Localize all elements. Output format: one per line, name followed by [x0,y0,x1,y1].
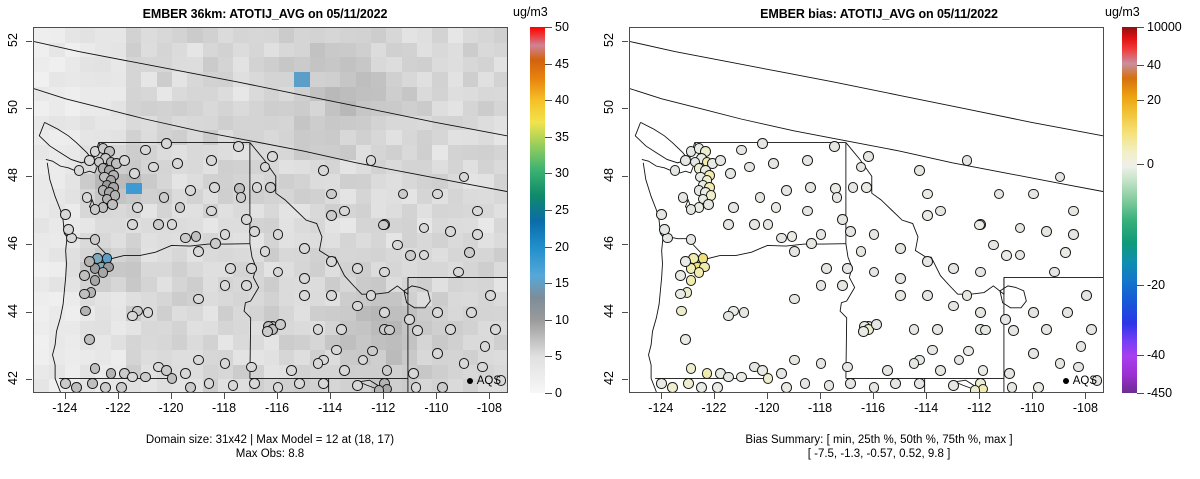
colorbar-tick [545,320,552,321]
site-marker [275,319,286,330]
y-tick-label: 52 [6,27,20,53]
colorbar-tick [1137,355,1144,356]
bias-aqs-legend: AQS [1063,375,1097,387]
site-marker [683,378,694,389]
site-marker [84,155,95,166]
site-marker [326,189,337,200]
site-marker [1028,189,1039,200]
site-marker [382,365,393,376]
site-marker [318,165,329,176]
colorbar-tick-label: -450 [1147,386,1172,400]
site-marker [723,219,734,230]
colorbar-tick-label: 30 [555,166,569,180]
site-marker [252,182,263,193]
site-marker [656,209,667,220]
model-map-plot: AQS [33,27,508,393]
site-marker [848,182,859,193]
site-marker [1028,348,1039,359]
x-tick [714,393,715,399]
colorbar-tick-label: 5 [555,349,562,363]
y-tick-label: 42 [602,365,616,391]
site-marker [71,382,82,393]
site-marker [696,382,707,393]
site-marker [922,189,933,200]
site-marker [789,246,800,257]
site-marker [299,243,310,254]
x-tick [1032,393,1033,399]
site-marker [869,382,880,393]
x-tick-label: -108 [1062,401,1108,415]
site-marker [670,165,681,176]
site-marker [927,345,938,356]
y-tick [622,108,628,109]
bias-colorbar-unit: ug/m3 [1105,5,1140,19]
site-marker [1033,382,1044,393]
colorbar-tick [1137,393,1144,394]
site-marker [805,182,816,193]
site-marker [161,138,172,149]
x-tick [330,393,331,399]
x-tick-label: -116 [254,401,300,415]
site-marker [675,289,686,300]
site-marker [1068,229,1079,240]
site-marker [294,378,305,389]
site-marker [980,325,991,336]
site-marker [127,372,138,383]
y-tick-label: 44 [6,298,20,324]
site-marker [845,378,856,389]
site-marker [367,346,378,357]
site-marker [107,199,118,210]
site-marker [326,290,337,301]
colorbar-tick-label: 20 [1147,93,1161,107]
site-marker [914,165,925,176]
site-marker [185,382,196,393]
site-marker [686,275,697,286]
site-marker [90,275,101,286]
site-marker [963,346,974,357]
site-marker [871,319,882,330]
site-marker [1000,314,1011,325]
site-marker [286,365,297,376]
site-marker [1041,324,1052,335]
model-panel-title: EMBER 36km: ATOTIJ_AVG on 05/11/2022 [0,7,530,21]
site-marker [172,158,183,169]
x-tick-label: -124 [638,401,684,415]
model-panel: EMBER 36km: ATOTIJ_AVG on 05/11/2022 AQS… [0,0,600,479]
site-marker [781,382,792,393]
colorbar-tick [545,210,552,211]
site-marker [715,155,726,166]
site-marker [241,280,252,291]
x-tick-label: -120 [744,401,790,415]
site-marker [723,372,734,383]
site-marker [225,263,236,274]
site-marker [318,378,329,389]
site-marker [978,365,989,376]
site-marker [326,210,337,221]
site-marker [842,263,853,274]
site-marker [755,192,766,203]
colorbar-tick [545,27,552,28]
x-tick [277,393,278,399]
site-marker [82,192,93,203]
x-tick-label: -114 [307,401,353,415]
model-aqs-legend-label: AQS [477,375,501,387]
x-tick [979,393,980,399]
colorbar-tick-label: 40 [555,93,569,107]
site-marker [472,229,483,240]
site-marker [262,326,273,337]
bias-caption: Bias Summary: [ min, 25th %, 50th %, 75t… [629,433,1129,461]
colorbar-tick-label: 15 [555,276,569,290]
y-tick [622,41,628,42]
site-marker [273,382,284,393]
colorbar-tick-label: -20 [1147,278,1165,292]
site-marker [352,380,363,391]
site-marker [193,246,204,257]
model-caption: Domain size: 31x42 | Max Model = 12 at (… [0,433,540,461]
site-marker [686,204,697,215]
site-marker [60,209,71,220]
site-marker [384,325,395,336]
site-marker [821,263,832,274]
colorbar-tick [545,173,552,174]
colorbar-tick [1137,164,1144,165]
site-marker [209,182,220,193]
aqs-dot-icon [1063,378,1069,384]
site-marker [787,231,798,242]
site-marker [922,256,933,267]
site-marker [1028,307,1039,318]
colorbar-tick-label: 35 [555,130,569,144]
site-marker [837,214,848,225]
model-colorbar-gradient [530,27,545,393]
y-tick-label: 42 [6,365,20,391]
x-tick-label: -110 [1009,401,1055,415]
site-marker [140,145,151,156]
x-tick [224,393,225,399]
x-tick-label: -120 [148,401,194,415]
site-marker [432,307,443,318]
site-marker [802,155,813,166]
site-marker [935,365,946,376]
x-tick-label: -118 [797,401,843,415]
site-marker [313,324,324,335]
site-marker [829,141,840,152]
y-tick-label: 46 [602,230,616,256]
y-tick-label: 44 [602,298,616,324]
site-marker [116,382,127,393]
site-marker [749,219,760,230]
site-marker [241,214,252,225]
site-marker [477,362,488,373]
x-tick [489,393,490,399]
site-marker [970,385,981,393]
y-tick-label: 46 [6,230,20,256]
site-marker [464,247,475,258]
site-marker [246,263,257,274]
bias-panel-title: EMBER bias: ATOTIJ_AVG on 05/11/2022 [629,7,1129,21]
site-marker [1086,324,1097,335]
site-marker [246,362,257,373]
site-marker [378,220,389,231]
site-marker [858,326,869,337]
y-tick [26,176,32,177]
site-marker [909,324,920,335]
site-marker [313,358,324,369]
site-marker [1073,362,1084,373]
colorbar-tick-label: 40 [1147,58,1161,72]
colorbar-tick [545,100,552,101]
y-tick-label: 52 [602,27,616,53]
site-marker [776,233,787,244]
site-marker [459,358,470,369]
site-marker [882,365,893,376]
site-marker [132,202,143,213]
colorbar-tick [1137,27,1144,28]
site-marker [127,219,138,230]
model-caption-line1: Domain size: 31x42 | Max Model = 12 at (… [0,433,540,447]
colorbar-tick [545,393,552,394]
site-marker [909,358,920,369]
site-marker [148,162,159,173]
colorbar-tick-label: 20 [555,240,569,254]
x-tick [926,393,927,399]
site-marker [379,307,390,318]
x-tick-label: -114 [903,401,949,415]
x-tick [118,393,119,399]
site-marker [331,345,342,356]
site-marker [180,368,191,379]
site-marker [445,226,456,237]
site-marker [392,240,403,251]
site-marker [485,290,496,301]
site-marker [832,192,843,203]
site-marker [339,365,350,376]
site-marker [366,155,377,166]
site-marker [63,224,74,235]
site-marker [922,290,933,301]
bias-colorbar-gradient [1122,27,1137,393]
x-tick [171,393,172,399]
colorbar-tick-label: 25 [555,203,569,217]
y-tick-label: 48 [602,162,616,188]
site-marker [744,162,755,173]
y-tick [622,379,628,380]
colorbar-tick [545,137,552,138]
y-tick-label: 48 [6,162,20,188]
colorbar-tick [545,64,552,65]
site-marker [988,240,999,251]
site-marker [1055,358,1066,369]
x-tick-label: -118 [201,401,247,415]
x-tick [436,393,437,399]
site-marker [837,280,848,291]
model-colorbar-unit: ug/m3 [513,5,548,19]
x-tick [1085,393,1086,399]
y-tick-label: 50 [6,94,20,120]
site-marker [757,138,768,149]
colorbar-tick-label: 0 [555,386,562,400]
x-tick-label: -124 [42,401,88,415]
colorbar-tick-label: -40 [1147,348,1165,362]
site-marker [1060,247,1071,258]
colorbar-tick [545,356,552,357]
site-marker [806,238,817,249]
site-marker [914,378,925,389]
site-marker [975,307,986,318]
x-tick [873,393,874,399]
site-marker [180,233,191,244]
site-marker [948,380,959,391]
colorbar-tick [1137,65,1144,66]
x-tick-label: -122 [95,401,141,415]
site-marker [1068,206,1079,217]
site-marker [935,206,946,217]
site-marker [781,185,792,196]
site-marker [404,314,415,325]
y-tick [622,244,628,245]
x-tick-label: -112 [956,401,1002,415]
site-marker [922,210,933,221]
x-tick-label: -122 [691,401,737,415]
y-tick [26,108,32,109]
site-marker [1081,290,1092,301]
site-marker [90,204,101,215]
model-aqs-legend: AQS [467,375,501,387]
site-marker [191,231,202,242]
site-marker [79,270,90,281]
bias-panel: EMBER bias: ATOTIJ_AVG on 05/11/2022 AQS… [600,0,1200,479]
y-tick [26,41,32,42]
site-marker [79,289,90,300]
colorbar-tick-label: 50 [555,20,569,34]
x-tick-label: -110 [413,401,459,415]
site-marker [1007,382,1018,393]
site-marker [339,206,350,217]
x-tick [767,393,768,399]
x-tick-label: -112 [360,401,406,415]
site-marker [210,238,221,249]
bias-aqs-legend-label: AQS [1073,375,1097,387]
bias-map-plot: AQS [629,27,1104,393]
site-marker [974,220,985,231]
site-marker [728,202,739,213]
colorbar-tick [545,283,552,284]
site-marker [153,219,164,230]
site-marker [768,158,779,169]
site-marker [678,192,689,203]
y-tick-label: 50 [602,94,616,120]
site-marker [1004,368,1015,379]
site-marker [1008,325,1019,336]
site-marker [326,256,337,267]
site-marker [861,182,872,193]
site-marker [736,145,747,156]
site-marker [975,267,986,278]
site-marker [445,324,456,335]
site-marker [411,382,422,393]
site-marker [824,380,835,391]
colorbar-tick-label: 10000 [1147,20,1182,34]
colorbar-tick [545,247,552,248]
site-marker [842,362,853,373]
site-marker [265,182,276,193]
site-marker [206,155,217,166]
site-marker [228,380,239,391]
x-tick [65,393,66,399]
site-marker [100,382,111,393]
y-tick [622,312,628,313]
figure-canvas: EMBER 36km: ATOTIJ_AVG on 05/11/2022 AQS… [0,0,1200,479]
model-caption-line2: Max Obs: 8.8 [0,447,540,461]
x-tick-label: -116 [850,401,896,415]
site-marker [712,382,723,393]
site-marker [703,199,714,210]
site-marker [472,206,483,217]
site-marker [408,368,419,379]
site-marker [352,263,363,274]
y-tick [26,312,32,313]
site-marker [675,270,686,281]
site-marker [667,382,678,393]
site-marker [87,378,98,389]
colorbar-tick [1137,285,1144,286]
site-marker [490,324,501,335]
x-tick [820,393,821,399]
site-marker [680,155,691,166]
site-marker [437,382,448,393]
site-marker [74,165,85,176]
y-tick [26,379,32,380]
x-tick-label: -108 [466,401,512,415]
site-marker [962,155,973,166]
site-marker [175,202,186,213]
site-marker [659,224,670,235]
colorbar-tick-label: 45 [555,57,569,71]
y-tick [26,244,32,245]
site-marker [948,263,959,274]
site-marker [412,325,423,336]
site-marker [723,311,734,322]
colorbar-tick [1137,100,1144,101]
site-marker [119,155,130,166]
site-marker [1041,226,1052,237]
site-marker [776,368,787,379]
site-marker [249,226,260,237]
y-tick [622,176,628,177]
site-marker [771,202,782,213]
site-marker [845,226,856,237]
site-marker [890,378,901,389]
colorbar-tick-label: 0 [1147,157,1154,171]
site-marker [236,192,247,203]
site-marker [374,385,385,393]
site-marker [233,141,244,152]
bias-caption-line2: [ -7.5, -1.3, -0.57, 0.52, 9.8 ] [629,447,1129,461]
aqs-dot-icon [467,378,473,384]
bias-caption-line1: Bias Summary: [ min, 25th %, 50th %, 75t… [629,433,1129,447]
colorbar-tick-label: 10 [555,313,569,327]
site-marker [895,243,906,254]
site-marker [127,311,138,322]
x-tick [383,393,384,399]
site-marker [185,185,196,196]
x-tick [661,393,662,399]
site-marker [432,189,443,200]
site-marker [432,348,443,359]
